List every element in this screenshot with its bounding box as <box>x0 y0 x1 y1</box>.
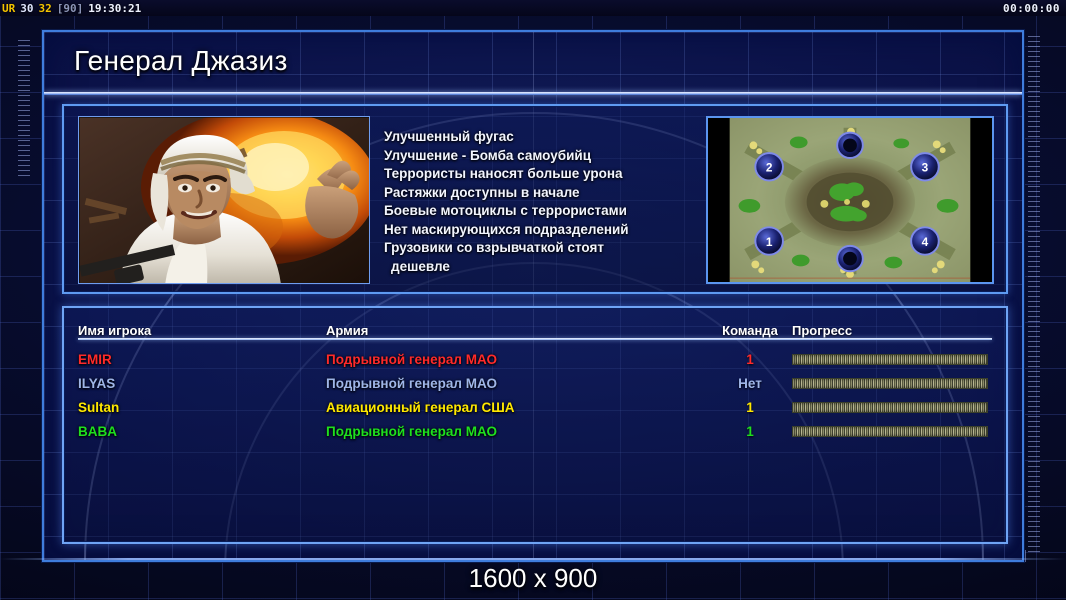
player-army: Авиационный генерал США <box>326 400 708 415</box>
resolution-label: 1600 x 900 <box>0 563 1066 594</box>
map-start-position-label: 1 <box>766 236 773 249</box>
player-name: EMIR <box>78 352 326 367</box>
ruler-strip-right <box>1028 36 1040 556</box>
column-header-progress: Прогресс <box>792 323 992 338</box>
stat-value-1: 30 <box>20 3 33 14</box>
player-progress <box>792 354 992 365</box>
ruler-strip-left <box>18 40 30 180</box>
column-header-team: Команда <box>708 323 792 338</box>
description-line: дешевле <box>384 258 714 277</box>
player-progress <box>792 426 992 437</box>
player-progress <box>792 402 992 413</box>
header-separator <box>78 338 992 340</box>
progress-bar <box>792 378 988 389</box>
column-header-name: Имя игрока <box>78 323 326 338</box>
description-line: Террористы наносят больше урона <box>384 165 714 184</box>
description-line: Нет маскирующихся подразделений <box>384 221 714 240</box>
player-team: 1 <box>708 424 792 439</box>
stat-bracket: [90] <box>57 3 84 14</box>
player-name: ILYAS <box>78 376 326 391</box>
general-portrait <box>78 116 370 284</box>
game-screen: UR 30 32 [90] 19:30:21 00:00:00 Генерал … <box>0 0 1066 600</box>
portrait-artwork <box>79 117 370 284</box>
description-line: Грузовики со взрывчаткой стоят <box>384 239 714 258</box>
table-header-row: Имя игрока Армия Команда Прогресс <box>78 314 992 338</box>
progress-bar <box>792 426 988 437</box>
map-start-position-label: 2 <box>766 162 773 175</box>
player-team: Нет <box>708 376 792 391</box>
players-panel: Имя игрока Армия Команда Прогресс EMIRПо… <box>62 306 1008 544</box>
session-clock: 19:30:21 <box>88 3 141 14</box>
network-stats: UR 30 32 [90] 19:30:21 <box>2 3 141 14</box>
players-table: Имя игрока Армия Команда Прогресс EMIRПо… <box>64 308 1006 542</box>
map-start-position-label: 4 <box>922 236 929 249</box>
loading-window: Генерал Джазиз <box>42 30 1024 562</box>
window-titlebar: Генерал Джазиз <box>44 32 1022 90</box>
description-line: Растяжки доступны в начале <box>384 184 714 203</box>
map-start-position-label: 3 <box>922 162 929 175</box>
description-line: Боевые мотоциклы с террористами <box>384 202 714 221</box>
map-preview-artwork: 2 3 1 4 <box>708 118 992 282</box>
table-row[interactable]: SultanАвиационный генерал США1 <box>78 396 992 419</box>
player-team: 1 <box>708 400 792 415</box>
page-title: Генерал Джазиз <box>74 45 288 77</box>
table-row[interactable]: EMIRПодрывной генерал МАО1 <box>78 348 992 371</box>
map-preview: 2 3 1 4 <box>706 116 994 284</box>
stat-value-2: 32 <box>39 3 52 14</box>
column-header-army: Армия <box>326 323 708 338</box>
progress-bar <box>792 402 988 413</box>
description-line: Улучшение - Бомба самоубийц <box>384 147 714 166</box>
footer-separator <box>0 558 1066 560</box>
player-name: Sultan <box>78 400 326 415</box>
player-name: BABA <box>78 424 326 439</box>
general-description: Улучшенный фугас Улучшение - Бомба самоу… <box>384 128 714 276</box>
table-row[interactable]: ILYASПодрывной генерал МАОНет <box>78 372 992 395</box>
stat-label: UR <box>2 3 15 14</box>
player-progress <box>792 378 992 389</box>
player-team: 1 <box>708 352 792 367</box>
table-row[interactable]: BABAПодрывной генерал МАО1 <box>78 420 992 443</box>
top-status-bar: UR 30 32 [90] 19:30:21 00:00:00 <box>0 0 1066 16</box>
player-army: Подрывной генерал МАО <box>326 376 708 391</box>
player-army: Подрывной генерал МАО <box>326 424 708 439</box>
player-army: Подрывной генерал МАО <box>326 352 708 367</box>
player-rows: EMIRПодрывной генерал МАО1ILYASПодрывной… <box>78 348 992 443</box>
progress-bar <box>792 354 988 365</box>
general-info-panel: Улучшенный фугас Улучшение - Бомба самоу… <box>62 104 1008 294</box>
description-line: Улучшенный фугас <box>384 128 714 147</box>
match-timer: 00:00:00 <box>1003 2 1060 15</box>
title-separator <box>44 92 1022 95</box>
